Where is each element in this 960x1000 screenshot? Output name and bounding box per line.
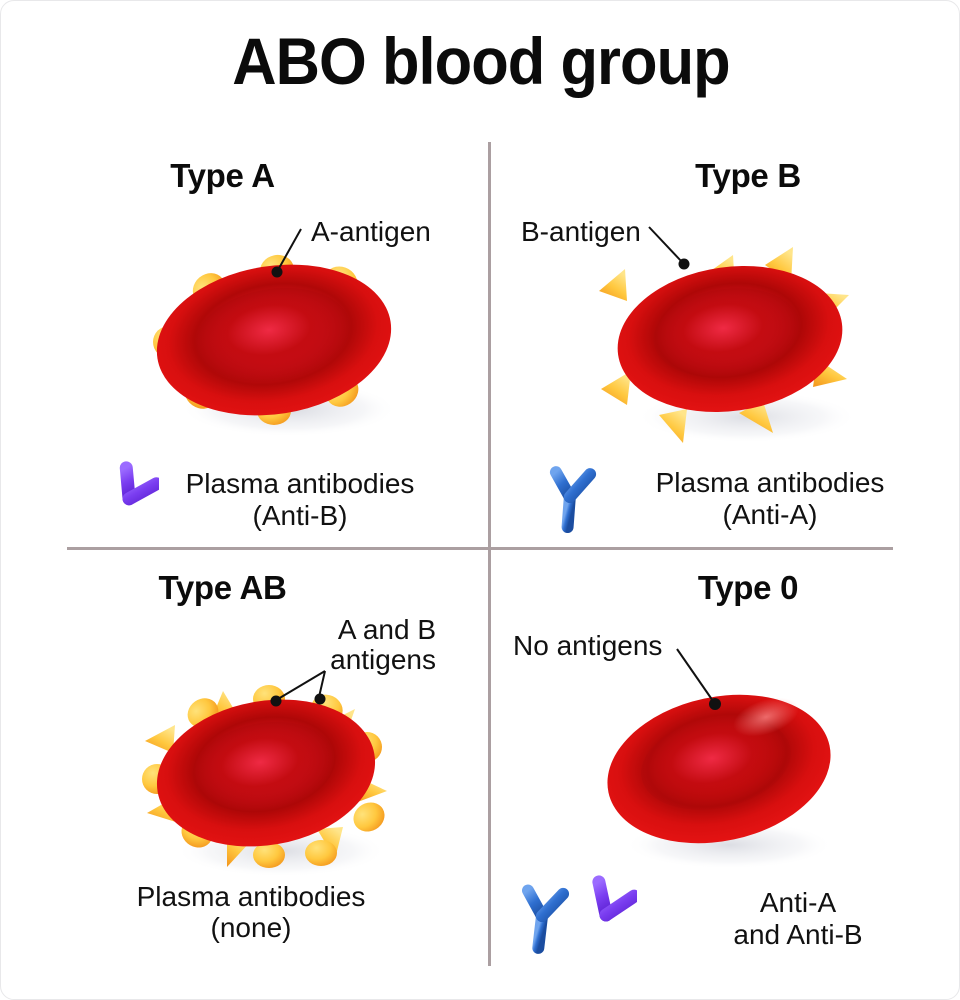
antibody-purple-icon — [575, 875, 637, 962]
antibody-label-type-a: Plasma antibodies (Anti-B) — [159, 468, 441, 531]
antibody-blue-icon — [541, 459, 599, 538]
page-title: ABO blood group — [35, 27, 928, 96]
antibody-label-type-o: Anti-A and Anti-B — [655, 887, 941, 950]
quadrant-type-b: Type B B-antigen — [491, 141, 960, 547]
horizontal-divider — [67, 547, 893, 550]
abo-blood-group-figure: ABO blood group Type A A-antigen — [0, 0, 960, 1000]
antibody-label-type-ab: Plasma antibodies (none) — [61, 881, 441, 944]
antibody-label-type-b: Plasma antibodies (Anti-A) — [599, 467, 941, 530]
antibody-blue-icon — [511, 876, 573, 961]
quadrant-type-ab: Type AB A and B antigens — [1, 553, 488, 973]
quadrant-type-o: Type 0 No antigens — [491, 553, 960, 973]
antibody-purple-icon — [101, 461, 159, 538]
antibody-row-type-b: Plasma antibodies (Anti-A) — [541, 459, 941, 538]
antibody-row-type-o: Anti-A and Anti-B — [511, 875, 941, 962]
quadrant-type-a: Type A A-antigen — [1, 141, 488, 547]
antibody-row-type-a: Plasma antibodies (Anti-B) — [101, 461, 441, 538]
antibody-row-type-ab: Plasma antibodies (none) — [61, 881, 441, 944]
